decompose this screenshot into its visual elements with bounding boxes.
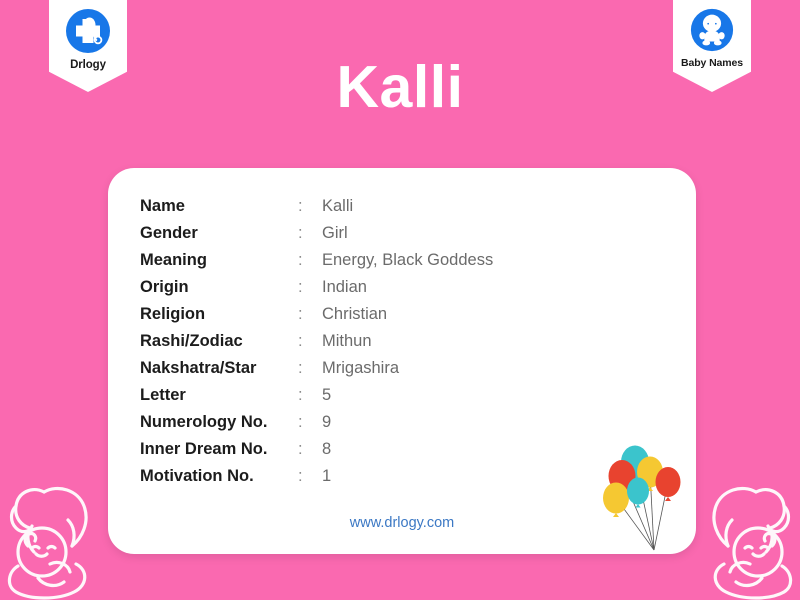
- row-label: Origin: [140, 274, 298, 301]
- table-row: Religion : Christian: [140, 301, 493, 328]
- website-url[interactable]: www.drlogy.com: [108, 515, 696, 531]
- row-label: Rashi/Zodiac: [140, 328, 298, 355]
- row-value: 9: [322, 409, 493, 436]
- name-details-table: Name : Kalli Gender : Girl Meaning : Ene…: [140, 193, 493, 490]
- name-card-page: Drlogy Baby Names Kalli Name : Kalli: [0, 0, 800, 600]
- table-row: Numerology No. : 9: [140, 409, 493, 436]
- row-value: Kalli: [322, 193, 493, 220]
- table-row: Name : Kalli: [140, 193, 493, 220]
- table-row: Letter : 5: [140, 382, 493, 409]
- table-row: Rashi/Zodiac : Mithun: [140, 328, 493, 355]
- row-separator: :: [298, 193, 322, 220]
- row-label: Letter: [140, 382, 298, 409]
- row-label: Religion: [140, 301, 298, 328]
- table-row: Nakshatra/Star : Mrigashira: [140, 355, 493, 382]
- row-label: Gender: [140, 220, 298, 247]
- table-row: Meaning : Energy, Black Goddess: [140, 247, 493, 274]
- mother-baby-icon-left: [0, 460, 112, 600]
- balloons-icon: [598, 442, 690, 554]
- row-separator: :: [298, 220, 322, 247]
- row-label: Meaning: [140, 247, 298, 274]
- row-label: Name: [140, 193, 298, 220]
- table-row: Motivation No. : 1: [140, 463, 493, 490]
- row-label: Numerology No.: [140, 409, 298, 436]
- row-separator: :: [298, 328, 322, 355]
- row-value: Energy, Black Goddess: [322, 247, 493, 274]
- row-value: Indian: [322, 274, 493, 301]
- row-separator: :: [298, 382, 322, 409]
- baby-icon: [689, 7, 735, 53]
- table-row: Origin : Indian: [140, 274, 493, 301]
- table-row: Inner Dream No. : 8: [140, 436, 493, 463]
- table-row: Gender : Girl: [140, 220, 493, 247]
- row-label: Inner Dream No.: [140, 436, 298, 463]
- row-label: Nakshatra/Star: [140, 355, 298, 382]
- row-separator: :: [298, 463, 322, 490]
- row-value: Girl: [322, 220, 493, 247]
- row-value: 1: [322, 463, 493, 490]
- row-label: Motivation No.: [140, 463, 298, 490]
- row-value: Christian: [322, 301, 493, 328]
- mother-baby-icon-right: [688, 460, 800, 600]
- row-separator: :: [298, 436, 322, 463]
- row-separator: :: [298, 355, 322, 382]
- row-separator: :: [298, 301, 322, 328]
- row-value: 5: [322, 382, 493, 409]
- row-separator: :: [298, 409, 322, 436]
- row-separator: :: [298, 274, 322, 301]
- row-value: Mithun: [322, 328, 493, 355]
- name-details-card: Name : Kalli Gender : Girl Meaning : Ene…: [108, 168, 696, 554]
- row-value: 8: [322, 436, 493, 463]
- page-title: Kalli: [0, 58, 800, 117]
- row-separator: :: [298, 247, 322, 274]
- doctor-cross-icon: [64, 7, 112, 55]
- row-value: Mrigashira: [322, 355, 493, 382]
